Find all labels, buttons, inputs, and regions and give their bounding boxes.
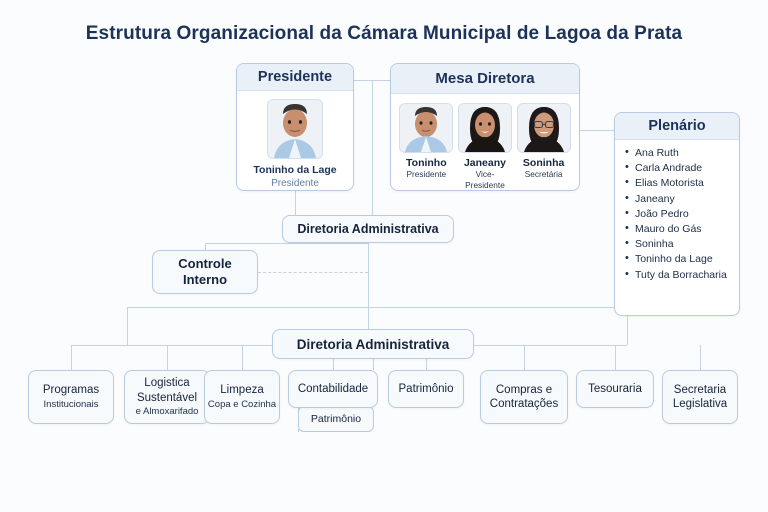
- node-label: Compras e: [496, 383, 552, 398]
- node-secretaria-legislativa[interactable]: Secretaria Legislativa: [662, 370, 738, 424]
- node-label-line2: Interno: [183, 272, 227, 288]
- connector-main-bus-upper: [127, 307, 627, 308]
- list-item: Elias Motorista: [625, 176, 739, 191]
- avatar-soninha: [517, 103, 571, 153]
- list-item: João Pedro: [625, 207, 739, 222]
- node-label: Limpeza: [220, 383, 263, 398]
- connector-dept-7: [700, 345, 701, 370]
- connector-dept-5: [524, 345, 525, 370]
- connector-dept-2: [242, 345, 243, 370]
- node-compras-e-contratacoes[interactable]: Compras e Contratações: [480, 370, 568, 424]
- card-mesa-diretora[interactable]: Mesa Diretora Toninho Presi: [390, 63, 580, 191]
- node-label: Contabilidade: [298, 382, 368, 397]
- node-contabilidade[interactable]: Contabilidade: [288, 370, 378, 408]
- connector-controle-bus: [205, 243, 368, 244]
- mesa-member-soninha[interactable]: Soninha Secretária: [517, 103, 571, 191]
- plenario-member-list: Ana Ruth Carla Andrade Elias Motorista J…: [615, 140, 739, 283]
- connector-diradm1-down: [368, 243, 369, 329]
- connector-controle-dotted: [258, 272, 368, 273]
- mesa-member-name: Janeany: [458, 157, 512, 169]
- org-chart-canvas: Estrutura Organizacional da Cámara Munic…: [0, 0, 768, 512]
- node-label: Logistica: [144, 376, 189, 391]
- node-label-2: Sustentável: [137, 391, 197, 406]
- mesa-member-toninho[interactable]: Toninho Presidente: [399, 103, 453, 191]
- connector-dept-0: [71, 345, 72, 370]
- connector-dept-1: [167, 345, 168, 370]
- list-item: Janeany: [625, 192, 739, 207]
- card-plenario-header: Plenário: [615, 113, 739, 140]
- president-name: Toninho da Lage: [245, 164, 345, 177]
- page-title: Estrutura Organizacional da Cámara Munic…: [0, 23, 768, 45]
- node-sub-patrimonio[interactable]: Patrimônio: [298, 406, 374, 432]
- node-diretoria-administrativa-1[interactable]: Diretoria Administrativa: [282, 215, 454, 243]
- connector-dept-6: [615, 345, 616, 370]
- connector-bus-left-drop: [127, 307, 128, 345]
- mesa-member-janeany[interactable]: Janeany Vice-Presidente: [458, 103, 512, 191]
- mesa-member-role: Vice-Presidente: [458, 169, 512, 191]
- node-label: Diretoria Administrativa: [297, 222, 438, 237]
- avatar-toninho-da-lage: [267, 99, 323, 159]
- president-role: Presidente: [245, 177, 345, 190]
- card-plenario[interactable]: Plenário Ana Ruth Carla Andrade Elias Mo…: [614, 112, 740, 316]
- connector-mesa-plenario: [580, 130, 614, 131]
- connector-controle-drop: [205, 243, 206, 250]
- connector-dept-4: [426, 359, 427, 370]
- node-label: Patrimônio: [399, 382, 454, 397]
- list-item: Soninha: [625, 237, 739, 252]
- card-mesa-header: Mesa Diretora: [391, 64, 579, 94]
- list-item: Toninho da Lage: [625, 252, 739, 267]
- node-label: Diretoria Administrativa: [297, 337, 450, 352]
- mesa-member-name: Toninho: [399, 157, 453, 169]
- mesa-member-name: Soninha: [517, 157, 571, 169]
- avatar-janeany: [458, 103, 512, 153]
- connector-dept-3: [333, 359, 334, 370]
- node-label: Tesouraria: [588, 382, 642, 397]
- connector-diradm2-down: [373, 359, 374, 370]
- node-label-2: Legislativa: [673, 397, 727, 412]
- mesa-members-row: Toninho Presidente Janean: [391, 94, 579, 191]
- node-limpeza[interactable]: Limpeza Copa e Cozinha: [204, 370, 280, 424]
- node-patrimonio[interactable]: Patrimônio: [388, 370, 464, 408]
- node-logistica-sustentavel[interactable]: Logistica Sustentável e Almoxarifado: [124, 370, 210, 424]
- node-controle-interno[interactable]: Controle Interno: [152, 250, 258, 294]
- node-tesouraria[interactable]: Tesouraria: [576, 370, 654, 408]
- list-item: Ana Ruth: [625, 146, 739, 161]
- node-sublabel: Copa e Cozinha: [208, 398, 276, 411]
- node-label-line1: Controle: [178, 256, 231, 272]
- list-item: Carla Andrade: [625, 161, 739, 176]
- node-diretoria-administrativa-2[interactable]: Diretoria Administrativa: [272, 329, 474, 359]
- avatar-toninho: [399, 103, 453, 153]
- node-label: Secretaria: [674, 383, 726, 398]
- card-presidente-header: Presidente: [237, 64, 353, 91]
- mesa-member-role: Presidente: [399, 169, 453, 180]
- node-label-2: Contratações: [490, 397, 558, 412]
- connector-mesa-stub: [372, 80, 373, 130]
- list-item: Tuty da Borracharia: [625, 268, 739, 283]
- node-programas-institucionais[interactable]: Programas Institucionais: [28, 370, 114, 424]
- list-item: Mauro do Gás: [625, 222, 739, 237]
- card-presidente[interactable]: Presidente Toninho da Lage Presidente: [236, 63, 354, 191]
- node-label: Programas: [43, 383, 99, 398]
- mesa-member-role: Secretária: [517, 169, 571, 180]
- node-sublabel: Institucionais: [44, 398, 99, 411]
- card-presidente-body: Toninho da Lage Presidente: [237, 91, 353, 199]
- node-sublabel: e Almoxarifado: [136, 405, 199, 418]
